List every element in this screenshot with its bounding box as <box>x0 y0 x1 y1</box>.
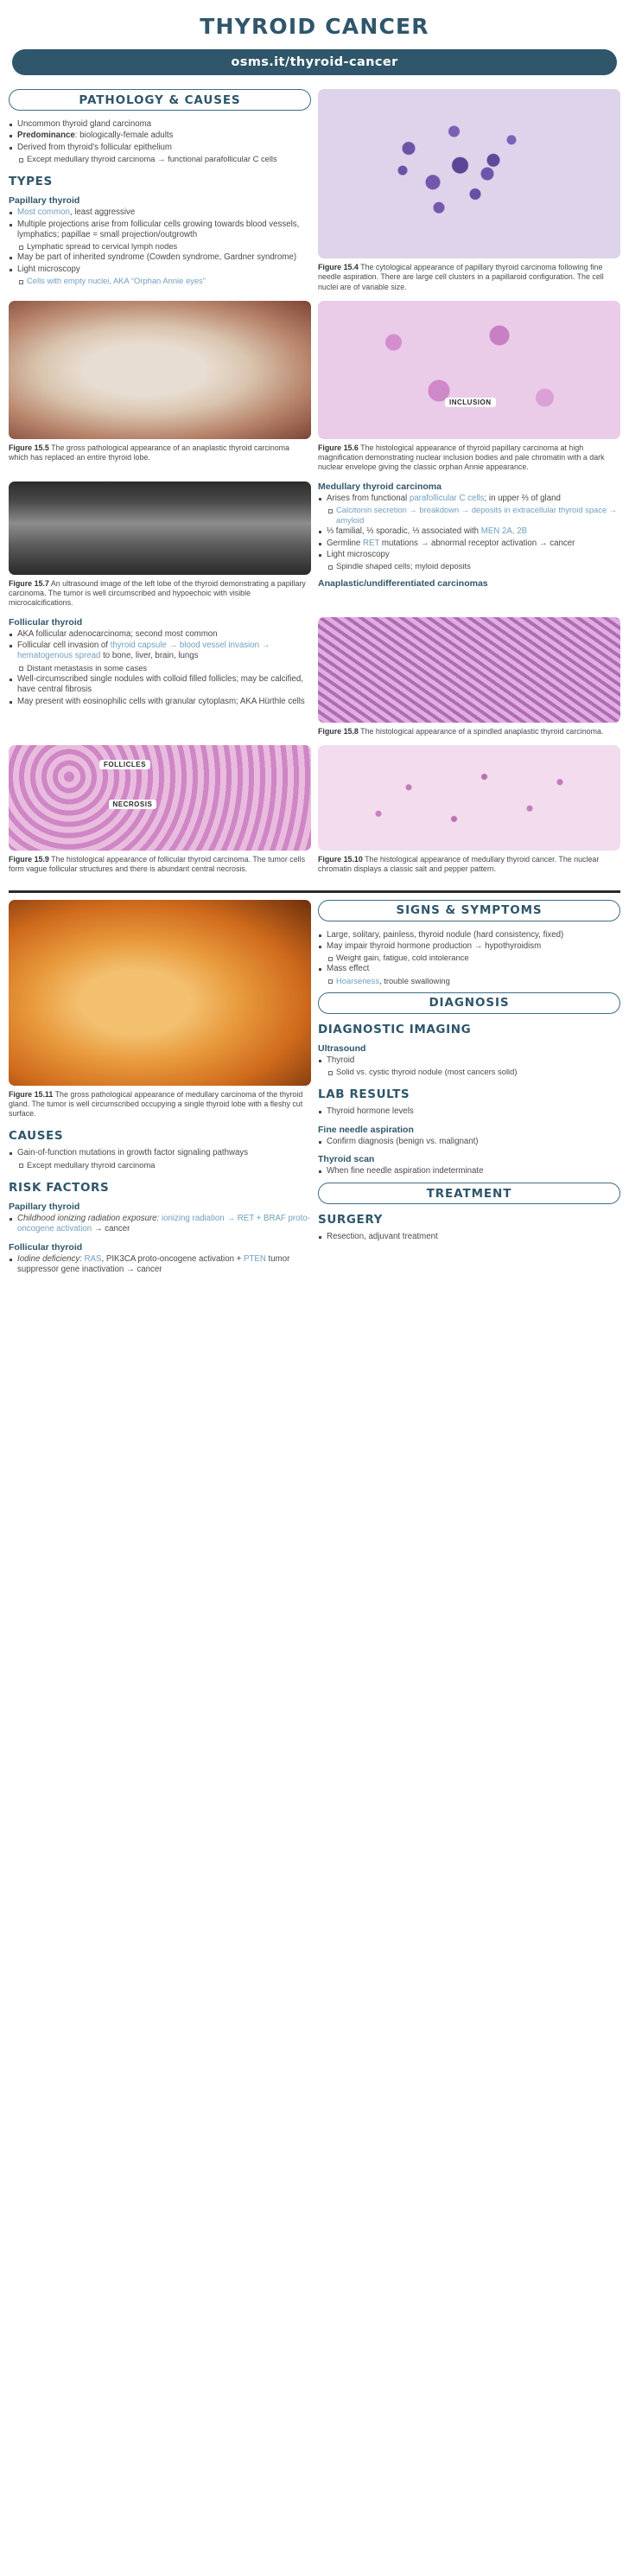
figure-15-9-caption: Figure 15.9 The histological appearance … <box>9 855 311 875</box>
url-banner[interactable]: osms.it/thyroid-cancer <box>12 49 617 75</box>
ultrasound-list: ThyroidSolid vs. cystic thyroid nodule (… <box>318 1055 620 1077</box>
figure-15-9-col: FOLLICLES NECROSIS Figure 15.9 The histo… <box>9 745 311 883</box>
list-item: Thyroid hormone levels <box>318 1106 620 1117</box>
section-label-diagnosis: DIAGNOSIS <box>429 996 509 1010</box>
url-text: osms.it/thyroid-cancer <box>231 55 397 69</box>
list-item: Childhood ionizing radiation exposure: i… <box>9 1214 311 1235</box>
fna-list: Confirm diagnosis (benign vs. malignant) <box>318 1137 620 1147</box>
block-gross-and-1506: Figure 15.5 The gross pathological appea… <box>0 301 629 481</box>
figure-15-8-col: Figure 15.8 The histological appearance … <box>318 617 620 745</box>
figure-15-6-col: INCLUSION Figure 15.6 The histological a… <box>318 301 620 481</box>
heading-types: TYPES <box>9 175 311 188</box>
heading-follicular: Follicular thyroid <box>9 617 311 628</box>
figure-15-11-text: The gross pathological appearance of med… <box>9 1090 302 1119</box>
block-1509-1510: FOLLICLES NECROSIS Figure 15.9 The histo… <box>0 745 629 883</box>
figure-15-5-number: Figure 15.5 <box>9 443 49 452</box>
figure-15-5-caption: Figure 15.5 The gross pathological appea… <box>9 443 311 463</box>
list-item: Iodine deficiency: RAS, PIK3CA proto-onc… <box>9 1254 311 1276</box>
list-item: Most common, least aggressive <box>9 207 311 218</box>
figure-15-6-text: The histological appearance of thyroid p… <box>318 443 605 472</box>
heading-risk-factors: RISK FACTORS <box>9 1181 311 1195</box>
list-item: Derived from thyroid's follicular epithe… <box>9 143 311 153</box>
list-item: May be part of inherited syndrome (Cowde… <box>9 252 311 263</box>
figure-15-8-image <box>318 617 620 723</box>
list-item: Except medullary thyroid carcinoma → fun… <box>9 154 311 164</box>
list-item: Large, solitary, painless, thyroid nodul… <box>318 930 620 940</box>
figure-15-8-text: The histological appearance of a spindle… <box>360 727 603 736</box>
section-header-diagnosis: DIAGNOSIS <box>318 992 620 1014</box>
list-item: Confirm diagnosis (benign vs. malignant) <box>318 1137 620 1147</box>
figure-15-5-image <box>9 301 311 439</box>
figure-15-5-col: Figure 15.5 The gross pathological appea… <box>9 301 311 472</box>
heading-medullary: Medullary thyroid carcinoma <box>318 481 620 492</box>
heading-risk-papillary: Papillary thyroid <box>9 1202 311 1212</box>
medullary-list: Arises from functional parafollicular C … <box>318 494 620 572</box>
list-item: When fine needle aspiration indeterminat… <box>318 1166 620 1176</box>
list-item: Light microscopy <box>318 550 620 560</box>
heading-diagnostic-imaging: DIAGNOSTIC IMAGING <box>318 1023 620 1036</box>
figure-15-9-text: The histological appearance of follicula… <box>9 855 305 873</box>
figure-15-10-image <box>318 745 620 851</box>
bottom-right-col: SIGNS & SYMPTOMS Large, solitary, painle… <box>318 900 620 1244</box>
heading-causes: CAUSES <box>9 1129 311 1143</box>
figure-15-5-text: The gross pathological appearance of an … <box>9 443 289 462</box>
column-right: Figure 15.4 The cytological appearance o… <box>318 89 620 301</box>
figure-15-7-number: Figure 15.7 <box>9 579 49 588</box>
figure-15-9-overlay-necrosis: NECROSIS <box>109 800 157 809</box>
follicular-col: Follicular thyroid AKA follicular adenoc… <box>9 617 311 708</box>
heading-risk-follicular: Follicular thyroid <box>9 1242 311 1253</box>
list-item: May impair thyroid hormone production → … <box>318 941 620 952</box>
figure-15-4-text: The cytological appearance of papillary … <box>318 263 604 291</box>
section-header-treatment: TREATMENT <box>318 1183 620 1204</box>
figure-15-11-number: Figure 15.11 <box>9 1090 53 1099</box>
list-item: Distant metastasis in some cases <box>9 663 311 673</box>
list-item: Spindle shaped cells; myloid deposits <box>318 561 620 571</box>
list-item: Follicular cell invasion of thyroid caps… <box>9 641 311 662</box>
figure-15-4-image <box>318 89 620 258</box>
figure-15-9-wrap: FOLLICLES NECROSIS <box>9 745 311 851</box>
section-header-pathology: PATHOLOGY & CAUSES <box>9 89 311 111</box>
figure-15-4-number: Figure 15.4 <box>318 263 359 271</box>
list-item: Resection, adjuvant treatment <box>318 1232 620 1242</box>
list-item: Lymphatic spread to cervical lymph nodes <box>9 241 311 252</box>
list-item: May present with eosinophilic cells with… <box>9 697 311 707</box>
figure-15-6-wrap: INCLUSION <box>318 301 620 439</box>
heading-surgery: SURGERY <box>318 1213 620 1227</box>
medullary-col: Medullary thyroid carcinoma Arises from … <box>318 481 620 591</box>
pathology-list: Uncommon thyroid gland carcinomaPredomin… <box>9 119 311 164</box>
heading-lab-results: LAB RESULTS <box>318 1087 620 1101</box>
figure-15-10-col: Figure 15.10 The histological appearance… <box>318 745 620 883</box>
figure-15-4-wrap <box>318 89 620 258</box>
figure-15-6-caption: Figure 15.6 The histological appearance … <box>318 443 620 473</box>
figure-15-7-text: An ultrasound image of the left lobe of … <box>9 579 306 608</box>
heading-anaplastic: Anaplastic/undifferentiated carcinomas <box>318 578 620 589</box>
figure-15-8-caption: Figure 15.8 The histological appearance … <box>318 727 620 736</box>
figure-15-11-caption: Figure 15.11 The gross pathological appe… <box>9 1090 311 1119</box>
heading-papillary: Papillary thyroid <box>9 195 311 206</box>
figure-15-4-caption: Figure 15.4 The cytological appearance o… <box>318 263 620 292</box>
list-item: Mass effect <box>318 964 620 974</box>
figure-15-6-image <box>318 301 620 439</box>
figure-15-8-number: Figure 15.8 <box>318 727 359 736</box>
figure-15-11-image <box>9 900 311 1086</box>
figure-15-10-number: Figure 15.10 <box>318 855 363 864</box>
heading-fna: Fine needle aspiration <box>318 1125 620 1135</box>
list-item: Thyroid <box>318 1055 620 1066</box>
list-item: Cells with empty nuclei, AKA “Orphan Ann… <box>9 276 311 286</box>
section-divider <box>9 890 620 893</box>
figure-15-9-image <box>9 745 311 851</box>
list-item: Solid vs. cystic thyroid nodule (most ca… <box>318 1067 620 1077</box>
list-item: Light microscopy <box>9 265 311 275</box>
figure-15-9-number: Figure 15.9 <box>9 855 49 864</box>
section-label: PATHOLOGY & CAUSES <box>79 93 240 107</box>
risk-papillary-list: Childhood ionizing radiation exposure: i… <box>9 1214 311 1235</box>
list-item: Well-circumscribed single nodules with c… <box>9 674 311 696</box>
infographic-page: THYROID CANCER osms.it/thyroid-cancer PA… <box>0 0 629 1285</box>
page-title: THYROID CANCER <box>0 0 629 49</box>
figure-15-9-overlay-follicles: FOLLICLES <box>99 760 150 769</box>
list-item: Germline RET mutations → abnormal recept… <box>318 539 620 549</box>
list-item: Except medullary thyroid carcinoma <box>9 1160 311 1170</box>
bottom-left-col: Figure 15.11 The gross pathological appe… <box>9 900 311 1277</box>
signs-list: Large, solitary, painless, thyroid nodul… <box>318 930 620 986</box>
causes-list: Gain-of-function mutations in growth fac… <box>9 1148 311 1170</box>
follicular-list: AKA follicular adenocarcinoma; second mo… <box>9 629 311 707</box>
surgery-list: Resection, adjuvant treatment <box>318 1232 620 1242</box>
lab-list: Thyroid hormone levels <box>318 1106 620 1117</box>
figure-15-6-overlay-label: INCLUSION <box>445 398 496 407</box>
figure-15-7-caption: Figure 15.7 An ultrasound image of the l… <box>9 579 311 609</box>
spacer-1 <box>318 987 620 992</box>
list-item: Hoarseness, trouble swallowing <box>318 976 620 986</box>
column-left: PATHOLOGY & CAUSES Uncommon thyroid glan… <box>9 89 311 287</box>
heading-ultrasound: Ultrasound <box>318 1043 620 1054</box>
list-item: Predominance: biologically-female adults <box>9 131 311 141</box>
figure-15-7-image <box>9 481 311 575</box>
block-follicular-1508: Follicular thyroid AKA follicular adenoc… <box>0 617 629 745</box>
papillary-list: Most common, least aggressiveMultiple pr… <box>9 207 311 286</box>
list-item: Uncommon thyroid gland carcinoma <box>9 119 311 130</box>
block-pathology: PATHOLOGY & CAUSES Uncommon thyroid glan… <box>0 89 629 301</box>
list-item: Gain-of-function mutations in growth fac… <box>9 1148 311 1158</box>
list-item: ⅓ familial, ⅓ sporadic, ⅓ associated wit… <box>318 526 620 537</box>
section-header-signs: SIGNS & SYMPTOMS <box>318 900 620 921</box>
section-label-treatment: TREATMENT <box>427 1187 512 1201</box>
block-ultrasound-medullary: Figure 15.7 An ultrasound image of the l… <box>0 481 629 617</box>
block-bottom: Figure 15.11 The gross pathological appe… <box>0 900 629 1277</box>
figure-15-6-number: Figure 15.6 <box>318 443 359 452</box>
list-item: AKA follicular adenocarcinoma; second mo… <box>9 629 311 640</box>
scan-list: When fine needle aspiration indeterminat… <box>318 1166 620 1176</box>
figure-15-10-caption: Figure 15.10 The histological appearance… <box>318 855 620 875</box>
heading-thyroid-scan: Thyroid scan <box>318 1154 620 1164</box>
list-item: Multiple projections arise from follicul… <box>9 220 311 241</box>
list-item: Arises from functional parafollicular C … <box>318 494 620 504</box>
list-item: Calcitonin secretion → breakdown → depos… <box>318 505 620 526</box>
figure-15-7-col: Figure 15.7 An ultrasound image of the l… <box>9 481 311 617</box>
list-item: Weight gain, fatigue, cold intolerance <box>318 953 620 963</box>
risk-follicular-list: Iodine deficiency: RAS, PIK3CA proto-onc… <box>9 1254 311 1276</box>
section-label-signs: SIGNS & SYMPTOMS <box>396 903 542 917</box>
